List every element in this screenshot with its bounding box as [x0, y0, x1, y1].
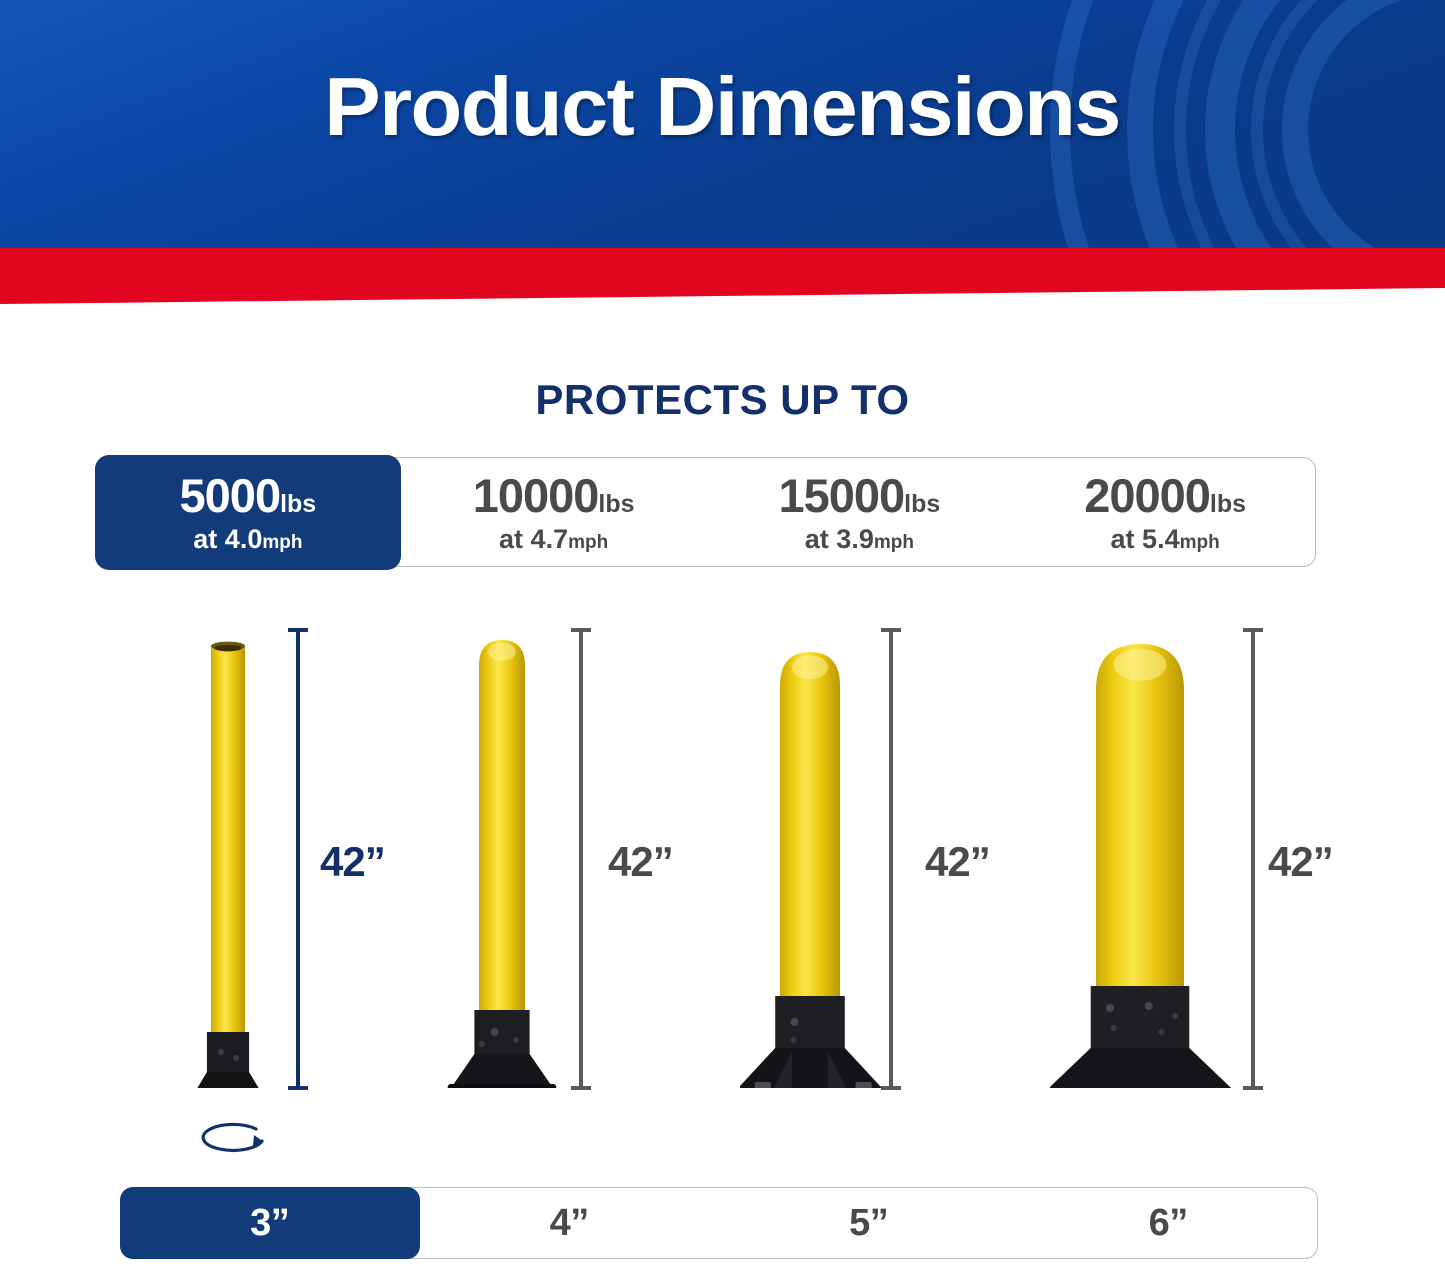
weight-option-15000[interactable]: 15000lbsat 3.9mph: [707, 455, 1013, 570]
speed-unit: mph: [262, 532, 302, 553]
size-option-5in[interactable]: 5”: [719, 1187, 1019, 1259]
weight-number: 5000: [180, 469, 281, 522]
weight-options-list: 5000lbsat 4.0mph10000lbsat 4.7mph15000lb…: [95, 455, 1318, 570]
weight-number: 10000: [473, 469, 599, 522]
weight-option-10000[interactable]: 10000lbsat 4.7mph: [401, 455, 707, 570]
page-title: Product Dimensions: [0, 0, 1445, 253]
diameter-size-row: 3”4”5”6”: [120, 1187, 1318, 1259]
weight-number: 15000: [778, 469, 904, 522]
page-header: Product Dimensions: [0, 0, 1445, 253]
height-dimension-line: [878, 628, 904, 1095]
bollard-column-6in[interactable]: 42”: [1050, 600, 1445, 1160]
speed-prefix: at: [499, 524, 531, 554]
height-dimension-line: [568, 628, 594, 1095]
weight-unit: lbs: [904, 490, 940, 518]
speed-prefix: at: [1111, 524, 1143, 554]
speed-number: 4.7: [531, 524, 569, 554]
weight-value: 10000lbs: [473, 472, 635, 519]
size-option-3in[interactable]: 3”: [120, 1187, 420, 1259]
weight-value: 20000lbs: [1084, 472, 1246, 519]
height-dimension-line: [285, 628, 311, 1095]
rotation-arrow-icon: [190, 1115, 282, 1162]
speed-value: at 5.4mph: [1111, 526, 1220, 553]
speed-unit: mph: [1180, 532, 1220, 553]
speed-prefix: at: [193, 524, 225, 554]
weight-unit: lbs: [1210, 490, 1246, 518]
speed-number: 4.0: [225, 524, 263, 554]
protects-heading: PROTECTS UP TO: [0, 376, 1445, 424]
weight-option-20000[interactable]: 20000lbsat 5.4mph: [1012, 455, 1318, 570]
bollard-diagram-row: 42”42”42”42”: [0, 600, 1445, 1160]
protects-weight-row: 5000lbsat 4.0mph10000lbsat 4.7mph15000lb…: [95, 455, 1318, 570]
height-label: 42”: [320, 838, 385, 886]
weight-number: 20000: [1084, 469, 1210, 522]
speed-number: 3.9: [836, 524, 874, 554]
size-options-list: 3”4”5”6”: [120, 1187, 1318, 1259]
speed-value: at 4.0mph: [193, 526, 302, 553]
protects-heading-text: PROTECTS UP TO: [535, 376, 909, 423]
weight-value: 5000lbs: [180, 472, 317, 519]
weight-option-5000[interactable]: 5000lbsat 4.0mph: [95, 455, 401, 570]
page-title-text: Product Dimensions: [325, 59, 1121, 155]
size-option-6in[interactable]: 6”: [1019, 1187, 1319, 1259]
speed-unit: mph: [874, 532, 914, 553]
height-dimension-line: [1240, 628, 1266, 1095]
speed-value: at 3.9mph: [805, 526, 914, 553]
red-accent-band: [0, 248, 1445, 304]
weight-unit: lbs: [280, 490, 316, 518]
height-label: 42”: [608, 838, 673, 886]
speed-prefix: at: [805, 524, 837, 554]
speed-value: at 4.7mph: [499, 526, 608, 553]
weight-unit: lbs: [598, 490, 634, 518]
height-label: 42”: [1268, 838, 1333, 886]
speed-unit: mph: [568, 532, 608, 553]
height-label: 42”: [925, 838, 990, 886]
speed-number: 5.4: [1142, 524, 1180, 554]
size-option-4in[interactable]: 4”: [420, 1187, 720, 1259]
weight-value: 15000lbs: [778, 472, 940, 519]
